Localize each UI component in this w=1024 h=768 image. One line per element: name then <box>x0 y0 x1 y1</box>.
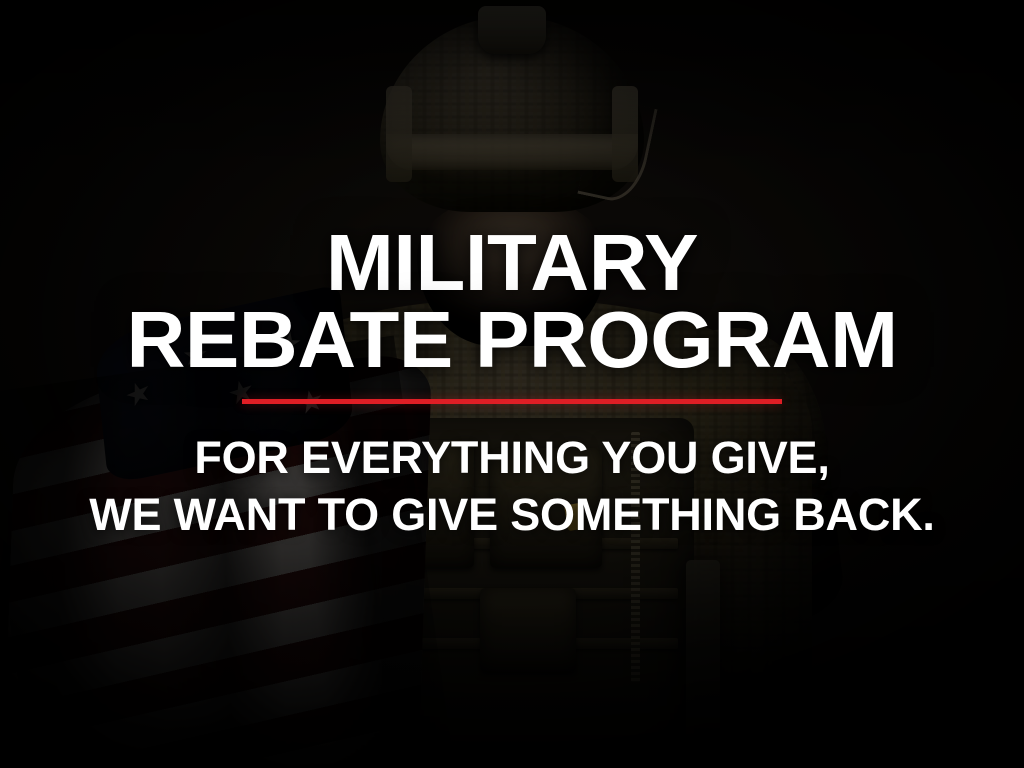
subheadline-line-1: FOR EVERYTHING YOU GIVE, <box>89 430 934 487</box>
banner-content: MILITARY REBATE PROGRAM FOR EVERYTHING Y… <box>0 0 1024 768</box>
red-divider <box>242 399 782 404</box>
subheadline-line-2: WE WANT TO GIVE SOMETHING BACK. <box>89 487 934 544</box>
subheadline: FOR EVERYTHING YOU GIVE, WE WANT TO GIVE… <box>89 430 934 543</box>
page-title: MILITARY REBATE PROGRAM <box>134 225 890 377</box>
military-rebate-banner: ★ ★ ★ ★ ★ MILITARY REBATE PROGRAM FOR EV… <box>0 0 1024 768</box>
headline-line-2: REBATE PROGRAM <box>126 302 897 377</box>
headline-line-1: MILITARY <box>126 225 897 300</box>
